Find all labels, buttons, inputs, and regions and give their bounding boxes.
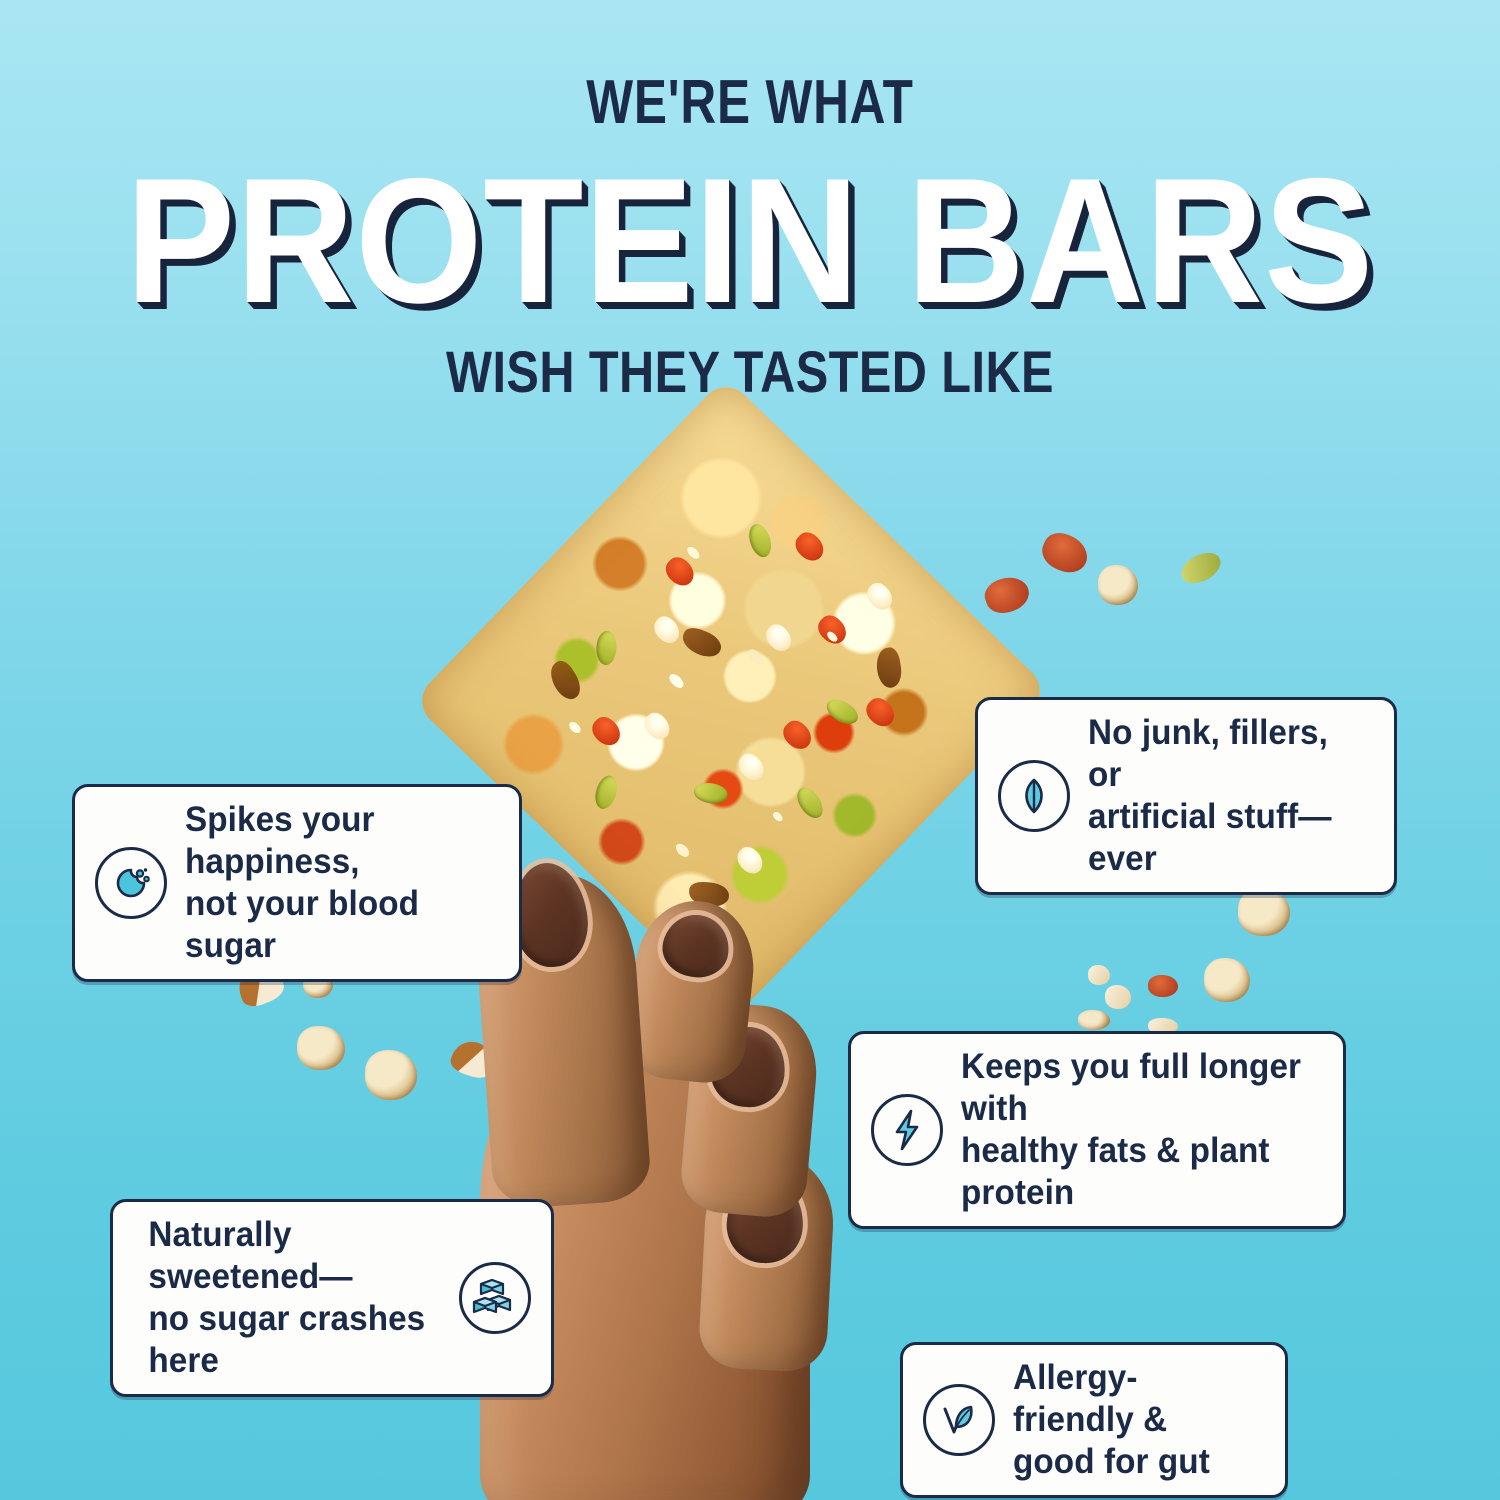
crumb: [1078, 1010, 1110, 1030]
crumb: [1148, 975, 1178, 997]
leaf-icon: [998, 760, 1070, 832]
crumb: [448, 1036, 498, 1081]
badge-no-junk[interactable]: No junk, fillers, or artificial stuff—ev…: [975, 697, 1397, 895]
crumb: [1098, 565, 1138, 605]
badge-label: Naturally sweetened— no sugar crashes he…: [148, 1214, 441, 1382]
crumb: [1037, 527, 1094, 579]
badge-allergy-friendly[interactable]: Allergy-friendly & good for gut: [900, 1342, 1288, 1498]
cookie-bite-icon: [95, 847, 167, 919]
crumb: [1204, 958, 1250, 1002]
crumb: [365, 1050, 417, 1100]
badge-naturally-sweetened[interactable]: Naturally sweetened— no sugar crashes he…: [110, 1199, 554, 1397]
headline-subhead: WISH THEY TASTED LIKE: [120, 344, 1380, 402]
lightning-bolt-icon: [871, 1094, 943, 1166]
crumb: [1088, 965, 1110, 985]
marketing-infographic: WE'RE WHAT PROTEIN BARS WISH THEY TASTED…: [0, 0, 1500, 1500]
vegan-leaf-icon: [923, 1384, 995, 1456]
badge-spikes-happiness[interactable]: Spikes your happiness, not your blood su…: [72, 784, 522, 982]
headline-kicker: WE'RE WHAT: [150, 72, 1350, 134]
badge-keeps-you-full[interactable]: Keeps you full longer with healthy fats …: [848, 1031, 1346, 1229]
crumb: [981, 572, 1033, 618]
headline-hero: PROTEIN BARS: [60, 152, 1440, 330]
crumb: [297, 1026, 345, 1070]
crumb: [1238, 888, 1290, 936]
sugar-cubes-icon: [459, 1262, 531, 1334]
badge-label: Keeps you full longer with healthy fats …: [961, 1046, 1305, 1214]
badge-label: No junk, fillers, or artificial stuff—ev…: [1088, 712, 1360, 880]
crumb: [1176, 547, 1225, 590]
crumb: [1105, 985, 1131, 1009]
badge-label: Spikes your happiness, not your blood su…: [185, 799, 483, 967]
badge-label: Allergy-friendly & good for gut: [1013, 1357, 1252, 1483]
